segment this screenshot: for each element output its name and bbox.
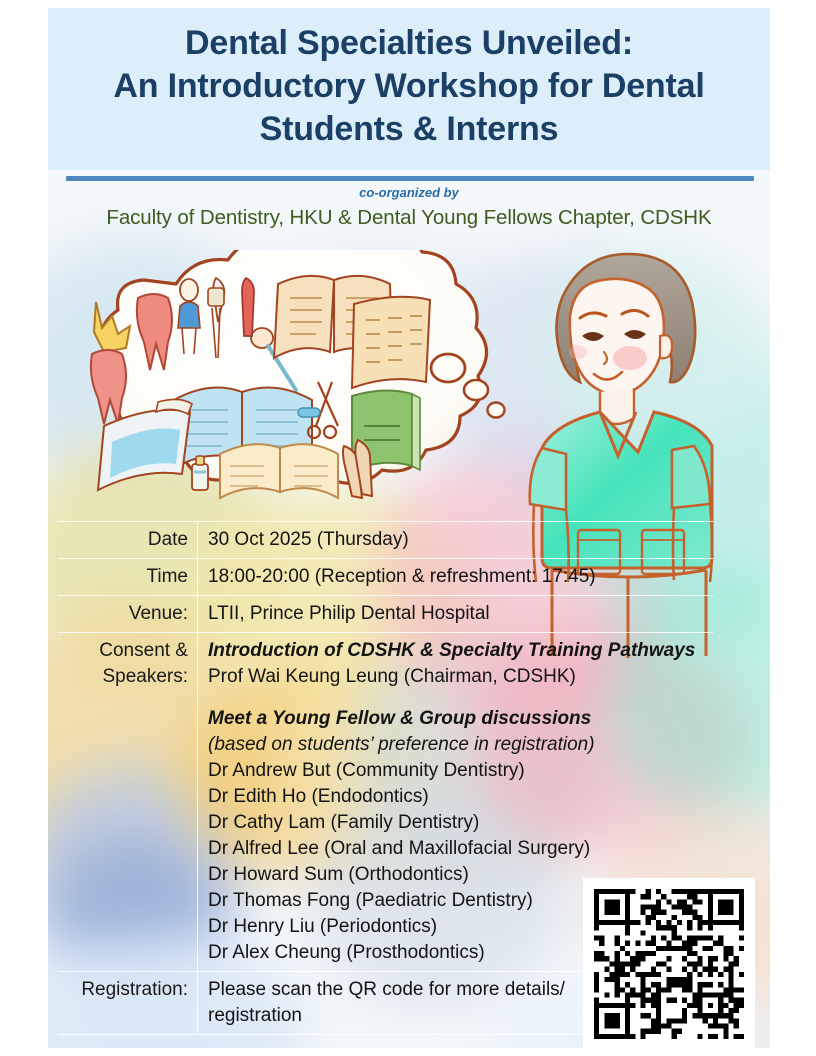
row-value-venue: LTII, Prince Philip Dental Hospital (198, 596, 713, 632)
session-note: (based on students’ preference in regist… (208, 732, 709, 758)
row-label-registration: Registration: (58, 972, 198, 1034)
row-value-date: 30 Oct 2025 (Thursday) (198, 522, 713, 558)
speaker-item: Dr Andrew But (Community Dentistry) (208, 758, 709, 784)
speakers-label-line-1: Consent & (99, 640, 188, 661)
speakers-label-line-2: Speakers: (102, 666, 188, 687)
poster: Dental Specialties Unveiled: An Introduc… (48, 8, 770, 1048)
row-label-speakers: Consent & Speakers: (58, 633, 198, 971)
row-label-time: Time (58, 559, 198, 595)
row-label-date: Date (58, 522, 198, 558)
session-title-2: Meet a Young Fellow & Group discussions (208, 706, 709, 732)
title-line-3: Students & Interns (48, 108, 770, 151)
organizers-line: Faculty of Dentistry, HKU & Dental Young… (48, 206, 770, 230)
session-title-1: Introduction of CDSHK & Specialty Traini… (208, 638, 709, 664)
table-row-venue: Venue: LTII, Prince Philip Dental Hospit… (58, 595, 713, 632)
qr-code[interactable] (594, 889, 744, 1039)
coorganized-label: co-organized by (48, 185, 770, 200)
row-label-venue: Venue: (58, 596, 198, 632)
speaker-chairman: Prof Wai Keung Leung (Chairman, CDSHK) (208, 664, 709, 690)
illustration (48, 240, 770, 526)
venue-value: LTII, Prince Philip Dental Hospital (208, 601, 709, 627)
table-row-time: Time 18:00-20:00 (Reception & refreshmen… (58, 558, 713, 595)
row-value-time: 18:00-20:00 (Reception & refreshment: 17… (198, 559, 713, 595)
speaker-item: Dr Alfred Lee (Oral and Maxillofacial Su… (208, 836, 709, 862)
speaker-item: Dr Edith Ho (Endodontics) (208, 784, 709, 810)
title-divider (66, 176, 754, 181)
speaker-item: Dr Cathy Lam (Family Dentistry) (208, 810, 709, 836)
date-value: 30 Oct 2025 (Thursday) (208, 527, 709, 553)
spacer (208, 690, 709, 706)
table-row-date: Date 30 Oct 2025 (Thursday) (58, 521, 713, 558)
time-value: 18:00-20:00 (Reception & refreshment: 17… (208, 564, 709, 590)
thought-bubble-icon (56, 250, 516, 502)
title-line-2: An Introductory Workshop for Dental (48, 65, 770, 108)
qr-code-panel[interactable] (583, 878, 755, 1048)
title-line-1: Dental Specialties Unveiled: (48, 22, 770, 65)
page-title: Dental Specialties Unveiled: An Introduc… (48, 22, 770, 151)
